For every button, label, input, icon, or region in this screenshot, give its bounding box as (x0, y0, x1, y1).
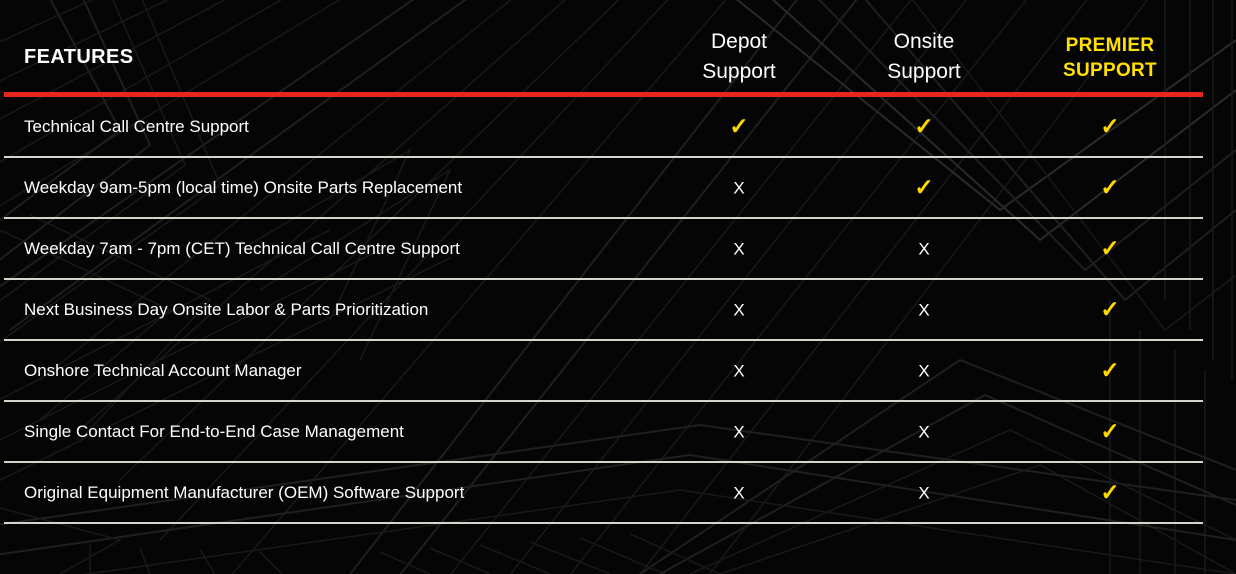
check-icon: ✓ (1100, 296, 1119, 322)
feature-label: Onshore Technical Account Manager (24, 361, 302, 381)
comparison-table: FEATURES Depot Support Onsite Support PR… (0, 0, 1236, 574)
cross-icon: X (918, 422, 929, 441)
table-row: Weekday 9am-5pm (local time) Onsite Part… (0, 157, 1236, 218)
features-column-heading: FEATURES (24, 46, 134, 69)
cell-onsite: X (844, 359, 1004, 382)
column-header-onsite-line1: Onsite (824, 27, 1024, 57)
support-comparison-table-page: FEATURES Depot Support Onsite Support PR… (0, 0, 1236, 574)
feature-label: Weekday 9am-5pm (local time) Onsite Part… (24, 178, 462, 198)
cell-premier: ✓ (1030, 298, 1190, 322)
cell-premier: ✓ (1030, 420, 1190, 444)
row-divider (4, 522, 1203, 524)
cross-icon: X (733, 422, 744, 441)
cell-depot: X (659, 359, 819, 382)
column-header-onsite-line2: Support (824, 57, 1024, 87)
column-header-premier-line2: SUPPORT (1010, 58, 1210, 83)
cross-icon: X (733, 361, 744, 380)
cell-depot: X (659, 298, 819, 321)
table-row: Single Contact For End-to-End Case Manag… (0, 401, 1236, 462)
check-icon: ✓ (914, 174, 933, 200)
cell-premier: ✓ (1030, 176, 1190, 200)
cross-icon: X (733, 300, 744, 319)
column-header-depot-line2: Support (639, 57, 839, 87)
cell-depot: X (659, 420, 819, 443)
cell-depot: X (659, 176, 819, 199)
table-row: Next Business Day Onsite Labor & Parts P… (0, 279, 1236, 340)
column-header-depot-line1: Depot (639, 27, 839, 57)
feature-label: Weekday 7am - 7pm (CET) Technical Call C… (24, 239, 460, 259)
cross-icon: X (918, 361, 929, 380)
feature-label: Single Contact For End-to-End Case Manag… (24, 422, 404, 442)
check-icon: ✓ (1100, 174, 1119, 200)
cross-icon: X (918, 300, 929, 319)
check-icon: ✓ (1100, 235, 1119, 261)
cell-depot: ✓ (659, 115, 819, 139)
check-icon: ✓ (1100, 357, 1119, 383)
cell-premier: ✓ (1030, 359, 1190, 383)
cell-premier: ✓ (1030, 115, 1190, 139)
check-icon: ✓ (1100, 418, 1119, 444)
cell-onsite: X (844, 237, 1004, 260)
cell-premier: ✓ (1030, 481, 1190, 505)
check-icon: ✓ (729, 113, 748, 139)
check-icon: ✓ (1100, 479, 1119, 505)
cross-icon: X (733, 178, 744, 197)
check-icon: ✓ (1100, 113, 1119, 139)
cross-icon: X (733, 483, 744, 502)
table-header-row: FEATURES Depot Support Onsite Support PR… (0, 0, 1236, 92)
cell-depot: X (659, 237, 819, 260)
table-row: Technical Call Centre Support ✓ ✓ ✓ (0, 96, 1236, 157)
cell-depot: X (659, 481, 819, 504)
cell-onsite: ✓ (844, 176, 1004, 200)
feature-label: Technical Call Centre Support (24, 117, 249, 137)
column-header-depot-support: Depot Support (639, 27, 839, 87)
table-row: Weekday 7am - 7pm (CET) Technical Call C… (0, 218, 1236, 279)
cell-onsite: X (844, 481, 1004, 504)
feature-label: Next Business Day Onsite Labor & Parts P… (24, 300, 428, 320)
cross-icon: X (733, 239, 744, 258)
column-header-premier-support: PREMIER SUPPORT (1010, 33, 1210, 83)
cell-onsite: X (844, 298, 1004, 321)
column-header-premier-line1: PREMIER (1010, 33, 1210, 58)
table-row: Original Equipment Manufacturer (OEM) So… (0, 462, 1236, 523)
cross-icon: X (918, 483, 929, 502)
column-header-onsite-support: Onsite Support (824, 27, 1024, 87)
cell-onsite: X (844, 420, 1004, 443)
check-icon: ✓ (914, 113, 933, 139)
table-row: Onshore Technical Account Manager X X ✓ (0, 340, 1236, 401)
cell-premier: ✓ (1030, 237, 1190, 261)
cell-onsite: ✓ (844, 115, 1004, 139)
feature-label: Original Equipment Manufacturer (OEM) So… (24, 483, 464, 503)
cross-icon: X (918, 239, 929, 258)
